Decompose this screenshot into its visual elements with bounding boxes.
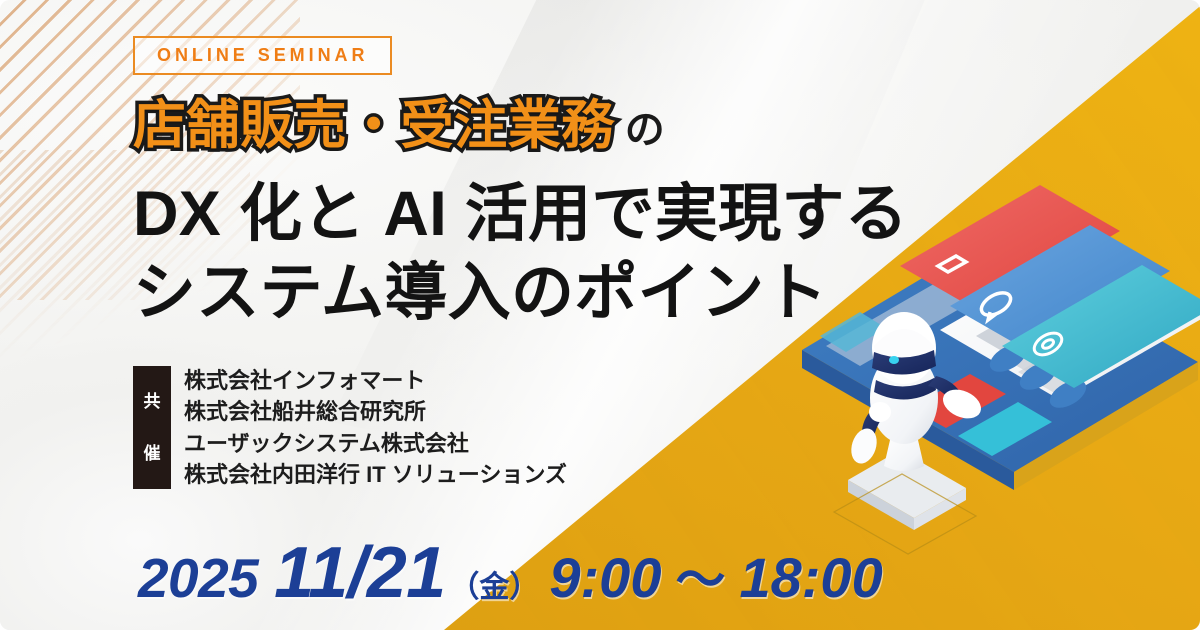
list-item: 株式会社内田洋行 IT ソリューションズ [184, 460, 567, 489]
headline-highlight: 店舗販売・受注業務 [133, 99, 615, 152]
seminar-banner: ONLINE SEMINAR 店舗販売・受注業務 の DX 化と AI 活用で実… [0, 0, 1200, 630]
schedule-range-mark: 〜 [675, 540, 725, 612]
schedule-day-of-week: （金） [449, 562, 539, 606]
schedule-month-day: 11/21 [274, 532, 445, 614]
headline-line-2: DX 化と AI 活用で実現する [133, 183, 908, 246]
schedule-end-time: 18:00 [739, 545, 882, 610]
cohost-block: 共 催 株式会社インフォマート 株式会社船井総合研究所 ユーザックシステム株式会… [133, 366, 567, 489]
cohost-tag-char-2: 催 [144, 445, 161, 462]
headline-highlight-suffix: の [625, 110, 665, 150]
list-item: 株式会社インフォマート [184, 366, 567, 395]
cohost-tag: 共 催 [133, 366, 171, 489]
list-item: 株式会社船井総合研究所 [184, 397, 567, 426]
cohost-organization-list: 株式会社インフォマート 株式会社船井総合研究所 ユーザックシステム株式会社 株式… [184, 366, 567, 489]
list-item: ユーザックシステム株式会社 [184, 429, 567, 458]
schedule-start-time: 9:00 [549, 545, 661, 610]
schedule-year: 2025 [138, 546, 258, 610]
cohost-tag-char-1: 共 [144, 393, 161, 410]
headline-line-3: システム導入のポイント [133, 262, 828, 325]
schedule-line: 2025 11/21 （金） 9:00 〜 18:00 [138, 532, 883, 614]
headline-line-1: 店舗販売・受注業務 の [133, 99, 665, 152]
online-seminar-badge: ONLINE SEMINAR [133, 36, 392, 75]
